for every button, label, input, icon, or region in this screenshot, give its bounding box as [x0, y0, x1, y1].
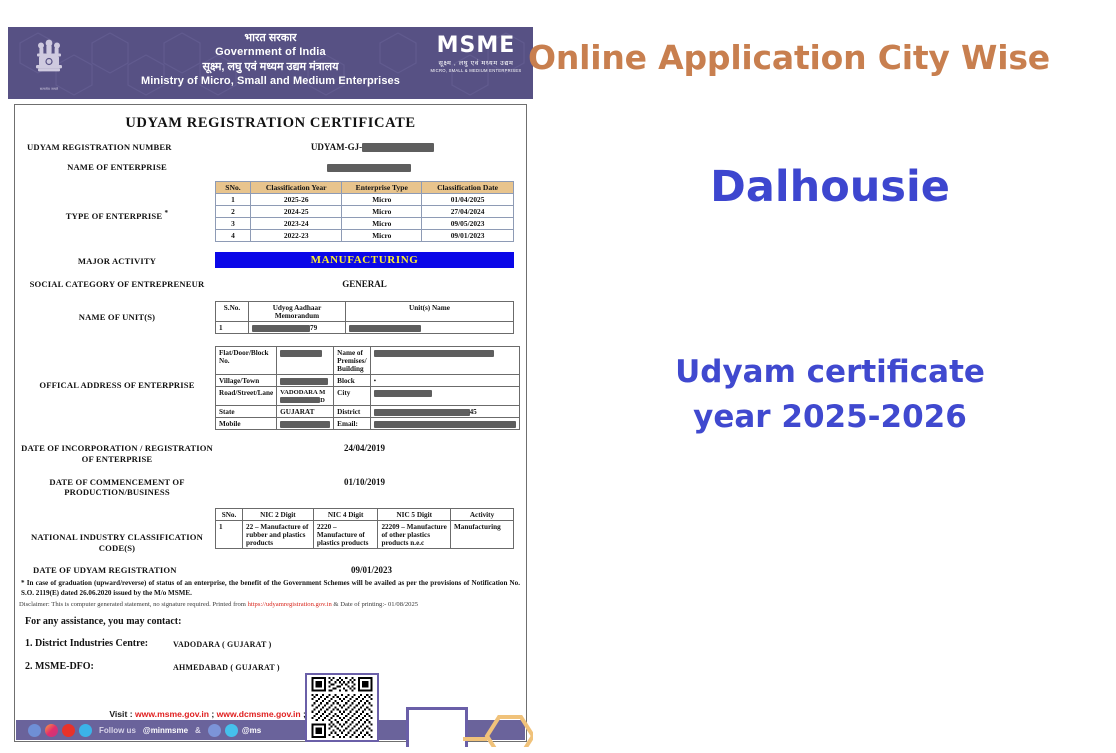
- subtitle-block: Udyam certificate year 2025-2026: [560, 350, 1100, 440]
- cls-r2c2: Micro: [342, 218, 422, 230]
- msme-logo-mark: MSME: [427, 35, 525, 57]
- assistance-heading: For any assistance, you may contact:: [25, 616, 526, 627]
- instagram-icon[interactable]: [45, 724, 58, 737]
- major-activity-label: MAJOR ACTIVITY: [19, 252, 215, 267]
- contact-dic: 1. District Industries Centre: VADODARA …: [25, 638, 526, 649]
- address-village-value: [277, 375, 334, 387]
- udyam-number-label: UDYAM REGISTRATION NUMBER: [19, 140, 223, 153]
- handle-minmsme[interactable]: @minmsme: [143, 726, 188, 735]
- address-state-label: State: [216, 406, 277, 418]
- cls-r3c0: 4: [216, 230, 251, 242]
- contact-dfo-value: AHMEDABAD ( GUJARAT ): [173, 661, 280, 672]
- row-enterprise-name: NAME OF ENTERPRISE: [19, 160, 522, 173]
- follow-us-text: Follow us: [99, 726, 136, 735]
- nic-th-2: NIC 4 Digit: [313, 509, 378, 521]
- contact-dic-label: 1. District Industries Centre:: [25, 638, 173, 649]
- units-uam-suffix: 79: [310, 324, 317, 332]
- nic-th-3: NIC 5 Digit: [378, 509, 451, 521]
- qr-code-glyph: [309, 677, 375, 738]
- facebook-icon[interactable]: [28, 724, 41, 737]
- address-city-value: [370, 387, 519, 406]
- subtitle-line-2: year 2025-2026: [560, 395, 1100, 440]
- cls-r3c2: Micro: [342, 230, 422, 242]
- name-of-units-label: NAME OF UNIT(S): [19, 301, 215, 323]
- units-th-1: Udyog Aadhaar Memorandum: [249, 302, 346, 322]
- address-flat-value: [277, 347, 334, 375]
- classification-th-0: SNo.: [216, 182, 251, 194]
- ampersand-text: &: [195, 726, 201, 735]
- row-official-address: OFFICAL ADDRESS OF ENTERPRISE Flat/Door/…: [19, 346, 522, 430]
- units-table-header-row: S.No. Udyog Aadhaar Memorandum Unit(s) N…: [216, 302, 514, 322]
- table-row: Mobile Email:: [216, 418, 520, 430]
- contact-dfo: 2. MSME-DFO: AHMEDABAD ( GUJARAT ): [25, 661, 526, 672]
- udyam-number-value: UDYAM-GJ-: [223, 140, 522, 152]
- units-r0c1: 79: [249, 322, 346, 334]
- twitter-icon[interactable]: [225, 724, 238, 737]
- contact-dic-value: VADODARA ( GUJARAT ): [173, 638, 271, 649]
- address-road-value: VADODARA M D: [277, 387, 334, 406]
- cls-r0c2: Micro: [342, 194, 422, 206]
- nic-r0c4: Manufacturing: [451, 521, 514, 549]
- redacted-unit-name: [349, 325, 421, 332]
- city-name: Dalhousie: [560, 162, 1100, 212]
- table-row: 4 2022-23 Micro 09/01/2023: [216, 230, 514, 242]
- visit-sep-1: ;: [209, 709, 217, 719]
- address-premises-value: [370, 347, 519, 375]
- address-email-value: [370, 418, 519, 430]
- address-road-label: Road/Street/Lane: [216, 387, 277, 406]
- redacted-premises: [374, 350, 494, 357]
- hexagon-decoration: [463, 699, 533, 747]
- cls-r1c2: Micro: [342, 206, 422, 218]
- page-root: सत्यमेव जयते भारत सरकार Government of In…: [0, 0, 1116, 753]
- cls-r3c3: 09/01/2023: [422, 230, 514, 242]
- address-state-value: GUJARAT: [277, 406, 334, 418]
- disclaimer-link[interactable]: https://udyamregistration.gov.in: [248, 601, 332, 608]
- udyam-certificate-image: सत्यमेव जयते भारत सरकार Government of In…: [8, 27, 533, 747]
- cls-r1c1: 2024-25: [251, 206, 342, 218]
- youtube-icon[interactable]: [62, 724, 75, 737]
- official-address-label: OFFICAL ADDRESS OF ENTERPRISE: [19, 346, 215, 391]
- msme-logo: MSME सूक्ष्म , लघु एवं मध्यम उद्यम MICRO…: [427, 35, 525, 73]
- classification-table-header-row: SNo. Classification Year Enterprise Type…: [216, 182, 514, 194]
- units-r0c2: [346, 322, 514, 334]
- row-major-activity: MAJOR ACTIVITY MANUFACTURING: [19, 252, 522, 268]
- table-row: Village/Town Block •: [216, 375, 520, 387]
- msme-logo-english: MICRO, SMALL & MEDIUM ENTERPRISES: [427, 68, 525, 73]
- address-block-label: Block: [334, 375, 370, 387]
- cls-r0c3: 01/04/2025: [422, 194, 514, 206]
- nic-r0c3: 22209 – Manufacture of other plastics pr…: [378, 521, 451, 549]
- table-row: State GUJARAT District 45: [216, 406, 520, 418]
- date-incorporation-value: 24/04/2019: [215, 441, 522, 453]
- disclaimer-post: & Date of printing:- 01/08/2025: [332, 601, 418, 608]
- certificate-body: UDYAM REGISTRATION CERTIFICATE UDYAM REG…: [14, 104, 527, 742]
- cls-r0c1: 2025-26: [251, 194, 342, 206]
- address-flat-label: Flat/Door/Block No.: [216, 347, 277, 375]
- page-title: Online Application City Wise: [528, 38, 1108, 77]
- social-category-label: SOCIAL CATEGORY OF ENTREPRENEUR: [19, 277, 215, 290]
- subtitle-line-1: Udyam certificate: [560, 350, 1100, 395]
- ministry-english: Ministry of Micro, Small and Medium Ente…: [8, 74, 533, 88]
- major-activity-value: MANUFACTURING: [215, 252, 514, 268]
- classification-table: SNo. Classification Year Enterprise Type…: [215, 181, 514, 242]
- visit-url-2[interactable]: www.dcmsme.gov.in: [217, 709, 301, 719]
- redacted-district: [374, 409, 470, 416]
- row-date-incorporation: DATE OF INCORPORATION / REGISTRATION OF …: [19, 441, 522, 464]
- classification-th-1: Classification Year: [251, 182, 342, 194]
- table-row: 1 2025-26 Micro 01/04/2025: [216, 194, 514, 206]
- row-name-of-units: NAME OF UNIT(S) S.No. Udyog Aadhaar Memo…: [19, 301, 522, 334]
- row-nic-codes: NATIONAL INDUSTRY CLASSIFICATION CODE(S)…: [19, 508, 522, 553]
- date-incorporation-label: DATE OF INCORPORATION / REGISTRATION OF …: [19, 441, 215, 464]
- row-date-commencement: DATE OF COMMENCEMENT OF PRODUCTION/BUSIN…: [19, 475, 522, 498]
- redacted-road: [280, 397, 320, 403]
- udyam-number-prefix: UDYAM-GJ-: [311, 142, 362, 152]
- units-th-2: Unit(s) Name: [346, 302, 514, 322]
- redacted-enterprise-name: [327, 164, 411, 172]
- classification-th-3: Classification Date: [422, 182, 514, 194]
- qr-code: [305, 673, 379, 742]
- nic-r0c1: 22 – Manufacture of rubber and plastics …: [243, 521, 314, 549]
- redacted-udyam-number: [362, 143, 434, 152]
- nic-label: NATIONAL INDUSTRY CLASSIFICATION CODE(S): [19, 508, 215, 553]
- row-type-of-enterprise: TYPE OF ENTERPRISE * SNo. Classification…: [19, 181, 522, 242]
- address-mobile-value: [277, 418, 334, 430]
- cls-r2c0: 3: [216, 218, 251, 230]
- address-road-bottom: D: [320, 397, 325, 404]
- cls-r2c1: 2023-24: [251, 218, 342, 230]
- date-udyam-value: 09/01/2023: [229, 563, 522, 575]
- address-table: Flat/Door/Block No. Name of Premises/ Bu…: [215, 346, 520, 430]
- enterprise-name-value: [215, 160, 522, 172]
- social-category-value: GENERAL: [215, 277, 522, 289]
- nic-table-header-row: SNo. NIC 2 Digit NIC 4 Digit NIC 5 Digit…: [216, 509, 514, 521]
- nic-th-0: SNo.: [216, 509, 243, 521]
- disclaimer-line: Disclaimer: This is computer generated s…: [19, 601, 522, 608]
- address-road-bottom-wrap: D: [280, 396, 330, 404]
- cls-r2c3: 09/05/2023: [422, 218, 514, 230]
- facebook-icon[interactable]: [208, 724, 221, 737]
- units-th-0: S.No.: [216, 302, 249, 322]
- address-block-value: •: [370, 375, 519, 387]
- address-road-top: VADODARA M: [280, 389, 330, 396]
- date-commencement-value: 01/10/2019: [215, 475, 522, 487]
- date-commencement-label: DATE OF COMMENCEMENT OF PRODUCTION/BUSIN…: [19, 475, 215, 498]
- certificate-header-band: सत्यमेव जयते भारत सरकार Government of In…: [8, 27, 533, 99]
- redacted-flat: [280, 350, 322, 357]
- address-city-label: City: [334, 387, 370, 406]
- redacted-village: [280, 378, 328, 385]
- graduation-footnote: * In case of graduation (upward/reverse)…: [21, 579, 520, 598]
- disclaimer-pre: Disclaimer: This is computer generated s…: [19, 601, 248, 608]
- cls-r1c0: 2: [216, 206, 251, 218]
- redacted-uam-number: [252, 325, 310, 332]
- handle-msme: @ms: [242, 726, 261, 735]
- table-row: Flat/Door/Block No. Name of Premises/ Bu…: [216, 347, 520, 375]
- redacted-email: [374, 421, 516, 428]
- nic-r0c0: 1: [216, 521, 243, 549]
- address-mobile-label: Mobile: [216, 418, 277, 430]
- type-of-enterprise-text: TYPE OF ENTERPRISE: [66, 211, 162, 221]
- row-date-udyam-registration: DATE OF UDYAM REGISTRATION 09/01/2023: [19, 563, 522, 576]
- date-udyam-label: DATE OF UDYAM REGISTRATION: [19, 563, 229, 576]
- nic-r0c2: 2220 – Manufacture of plastics products: [313, 521, 378, 549]
- row-udyam-number: UDYAM REGISTRATION NUMBER UDYAM-GJ-: [19, 140, 522, 153]
- contact-dfo-label: 2. MSME-DFO:: [25, 661, 173, 672]
- address-district-value: 45: [370, 406, 519, 418]
- type-of-enterprise-label: TYPE OF ENTERPRISE *: [19, 181, 215, 222]
- nic-table: SNo. NIC 2 Digit NIC 4 Digit NIC 5 Digit…: [215, 508, 514, 549]
- type-of-enterprise-asterisk: *: [165, 209, 169, 217]
- address-premises-label: Name of Premises/ Building: [334, 347, 370, 375]
- address-email-label: Email:: [334, 418, 370, 430]
- enterprise-name-label: NAME OF ENTERPRISE: [19, 160, 215, 173]
- redacted-mobile: [280, 421, 330, 428]
- msme-logo-hindi: सूक्ष्म , लघु एवं मध्यम उद्यम: [427, 58, 525, 67]
- cls-r3c1: 2022-23: [251, 230, 342, 242]
- address-district-visible: 45: [470, 408, 477, 416]
- row-social-category: SOCIAL CATEGORY OF ENTREPRENEUR GENERAL: [19, 277, 522, 290]
- address-village-label: Village/Town: [216, 375, 277, 387]
- certificate-title: UDYAM REGISTRATION CERTIFICATE: [15, 115, 526, 132]
- redacted-city: [374, 390, 432, 397]
- white-square-decoration: [406, 707, 468, 747]
- table-row: 1 79: [216, 322, 514, 334]
- table-row: Road/Street/Lane VADODARA M D City: [216, 387, 520, 406]
- table-row: 1 22 – Manufacture of rubber and plastic…: [216, 521, 514, 549]
- units-table: S.No. Udyog Aadhaar Memorandum Unit(s) N…: [215, 301, 514, 334]
- address-district-label: District: [334, 406, 370, 418]
- nic-th-4: Activity: [451, 509, 514, 521]
- visit-url-1[interactable]: www.msme.gov.in: [135, 709, 209, 719]
- nic-th-1: NIC 2 Digit: [243, 509, 314, 521]
- cls-r1c3: 27/04/2024: [422, 206, 514, 218]
- table-row: 3 2023-24 Micro 09/05/2023: [216, 218, 514, 230]
- cls-r0c0: 1: [216, 194, 251, 206]
- twitter-icon[interactable]: [79, 724, 92, 737]
- classification-th-2: Enterprise Type: [342, 182, 422, 194]
- visit-label: Visit :: [109, 709, 135, 719]
- table-row: 2 2024-25 Micro 27/04/2024: [216, 206, 514, 218]
- units-r0c0: 1: [216, 322, 249, 334]
